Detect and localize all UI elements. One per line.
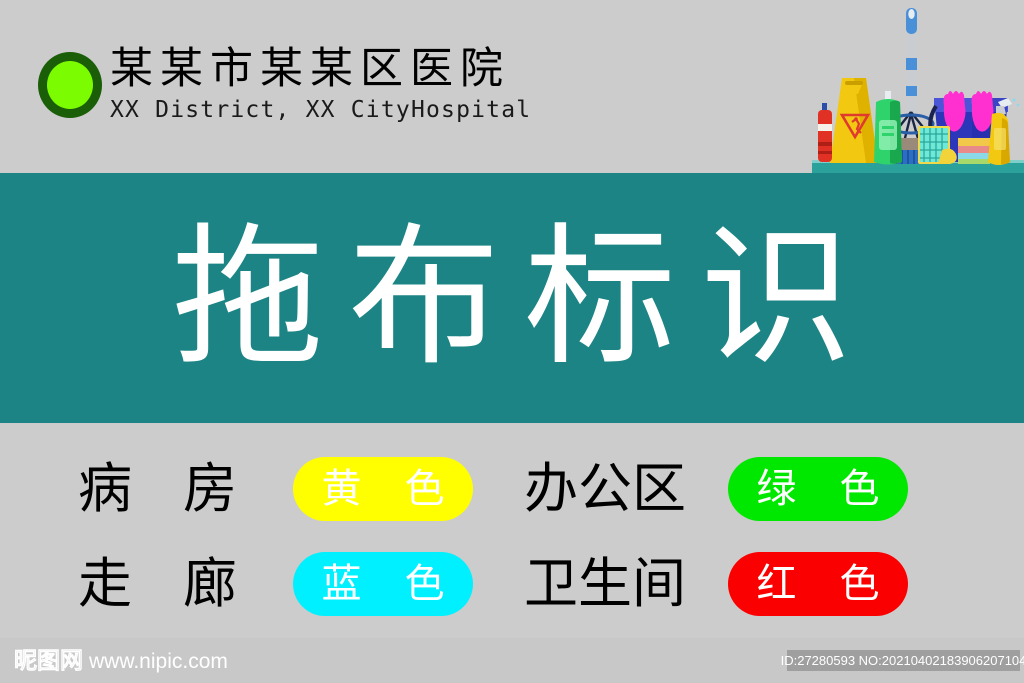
color-pill-green: 绿 色 — [728, 457, 908, 521]
watermark-url: www.nipic.com — [89, 650, 228, 674]
color-pill-yellow: 黄 色 — [293, 457, 473, 521]
green-detergent-bottle-icon — [874, 91, 902, 165]
legend-label-restroom: 卫生间 — [524, 554, 686, 614]
green-circle-logo-icon — [38, 52, 102, 118]
color-pill-blue-label: 蓝 色 — [305, 562, 460, 606]
sponge-stack-icon — [958, 138, 990, 164]
poster-canvas: 某某市某某区医院 XX District, XX CityHospital — [0, 0, 1024, 683]
image-id-badge: ID:27280593 NO:20210402183906207104 — [787, 650, 1020, 671]
color-pill-red-label: 红 色 — [740, 562, 895, 606]
organization-block: 某某市某某区医院 XX District, XX CityHospital — [110, 44, 710, 125]
page-title: 拖布标识 — [148, 222, 876, 374]
color-pill-yellow-label: 黄 色 — [305, 467, 460, 511]
legend-item-corridor: 走 廊 蓝 色 — [78, 551, 473, 617]
color-pill-green-label: 绿 色 — [740, 467, 895, 511]
red-bottle-icon — [818, 103, 832, 162]
legend-item-ward: 病 房 黄 色 — [78, 456, 473, 522]
image-id-text: ID:27280593 NO:20210402183906207104 — [781, 653, 1024, 668]
color-pill-red: 红 色 — [728, 552, 908, 616]
organization-name-en: XX District, XX CityHospital — [110, 95, 710, 125]
watermark-brand-cn: 昵图网 — [14, 648, 83, 673]
header-bar: 某某市某某区医院 XX District, XX CityHospital — [0, 0, 1024, 173]
legend-label-ward: 病 房 — [78, 459, 255, 519]
legend-label-corridor: 走 廊 — [78, 554, 255, 614]
color-pill-blue: 蓝 色 — [293, 552, 473, 616]
wet-floor-sign-icon — [830, 78, 878, 163]
cleaning-supplies-illustration — [812, 2, 1024, 173]
legend-item-office: 办公区 绿 色 — [524, 456, 908, 522]
title-band: 拖布标识 — [0, 173, 1024, 423]
legend-item-restroom: 卫生间 红 色 — [524, 551, 908, 617]
organization-name-cn: 某某市某某区医院 — [110, 44, 710, 94]
legend-label-office: 办公区 — [524, 459, 686, 519]
watermark: 昵图网 www.nipic.com — [14, 648, 228, 674]
